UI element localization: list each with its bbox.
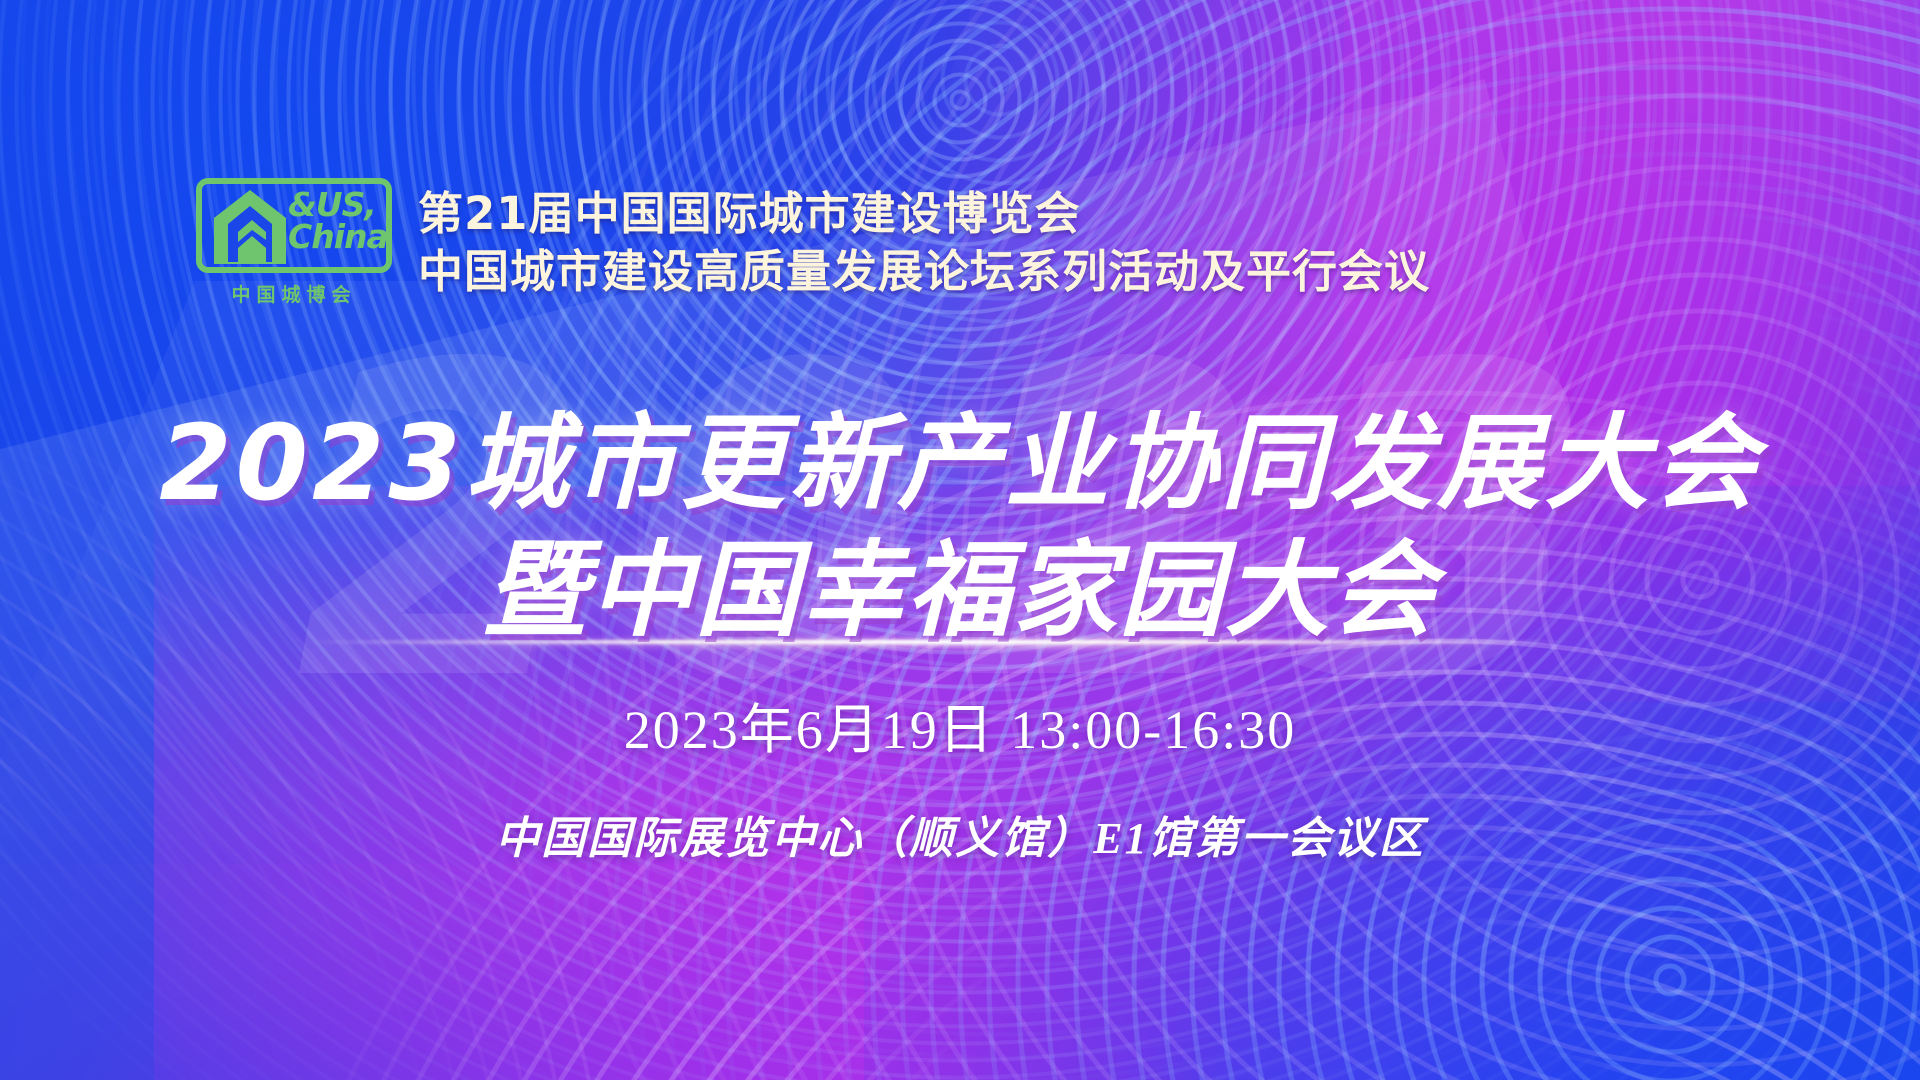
event-venue: 中国国际展览中心（顺义馆）E1馆第一会议区 bbox=[0, 802, 1920, 866]
expo-logo-line2: China bbox=[288, 222, 392, 252]
header-row: &US, China 中国城博会 第21届中国国际城市建设博览会 中国城市建设高… bbox=[196, 178, 1430, 307]
main-title-line-1: 2023城市更新产业协同发展大会 bbox=[0, 400, 1920, 527]
main-title-line-2: 暨中国幸福家园大会 bbox=[0, 527, 1920, 654]
header-text-lines: 第21届中国国际城市建设博览会 中国城市建设高质量发展论坛系列活动及平行会议 bbox=[418, 187, 1430, 297]
expo-logo-mark: &US, China bbox=[196, 178, 392, 273]
event-datetime: 2023年6月19日 13:00-16:30 bbox=[0, 685, 1920, 764]
event-meta: 2023年6月19日 13:00-16:30 中国国际展览中心（顺义馆）E1馆第… bbox=[0, 685, 1920, 866]
expo-logo-wordmark: &US, China bbox=[288, 190, 392, 251]
header-line-2: 中国城市建设高质量发展论坛系列活动及平行会议 bbox=[418, 245, 1430, 298]
expo-logo-line1: &US, bbox=[288, 190, 392, 220]
expo-logo-caption: 中国城博会 bbox=[196, 280, 392, 307]
house-icon bbox=[208, 184, 292, 268]
expo-logo: &US, China 中国城博会 bbox=[196, 178, 392, 307]
main-title: 2023城市更新产业协同发展大会 暨中国幸福家园大会 bbox=[0, 400, 1920, 654]
header-line-1: 第21届中国国际城市建设博览会 bbox=[418, 187, 1430, 240]
conference-poster: 2023 &US, China 中国城博会 bbox=[0, 0, 1920, 1080]
